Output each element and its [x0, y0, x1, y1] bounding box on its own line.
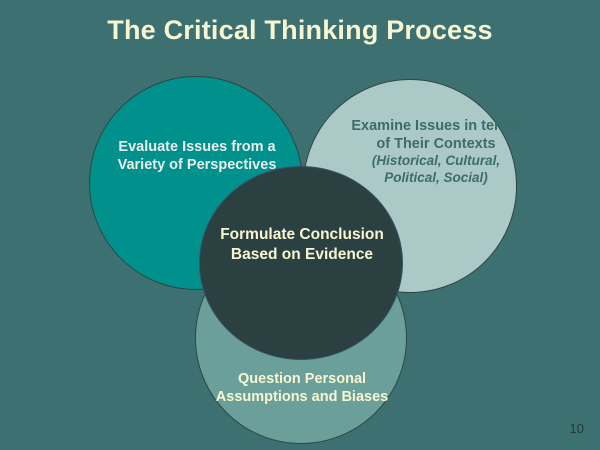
- venn-circle-formulate[interactable]: Formulate Conclusion Based on Evidence: [199, 166, 403, 360]
- venn-circle-evaluate-label: Evaluate Issues from a Variety of Perspe…: [104, 139, 290, 174]
- venn-circle-examine-main-text: Examine Issues in terms of Their Context…: [351, 118, 520, 152]
- venn-circle-formulate-label: Formulate Conclusion Based on Evidence: [220, 225, 384, 266]
- venn-circle-examine-label: Examine Issues in terms of Their Context…: [348, 118, 524, 186]
- venn-circle-question-label: Question Personal Assumptions and Biases: [208, 371, 396, 406]
- page-number: 10: [570, 421, 584, 436]
- venn-circle-examine-parenthetical: (Historical, Cultural, Political, Social…: [348, 153, 524, 185]
- venn-diagram: Evaluate Issues from a Variety of Perspe…: [0, 0, 600, 450]
- slide-canvas: The Critical Thinking Process Evaluate I…: [0, 0, 600, 450]
